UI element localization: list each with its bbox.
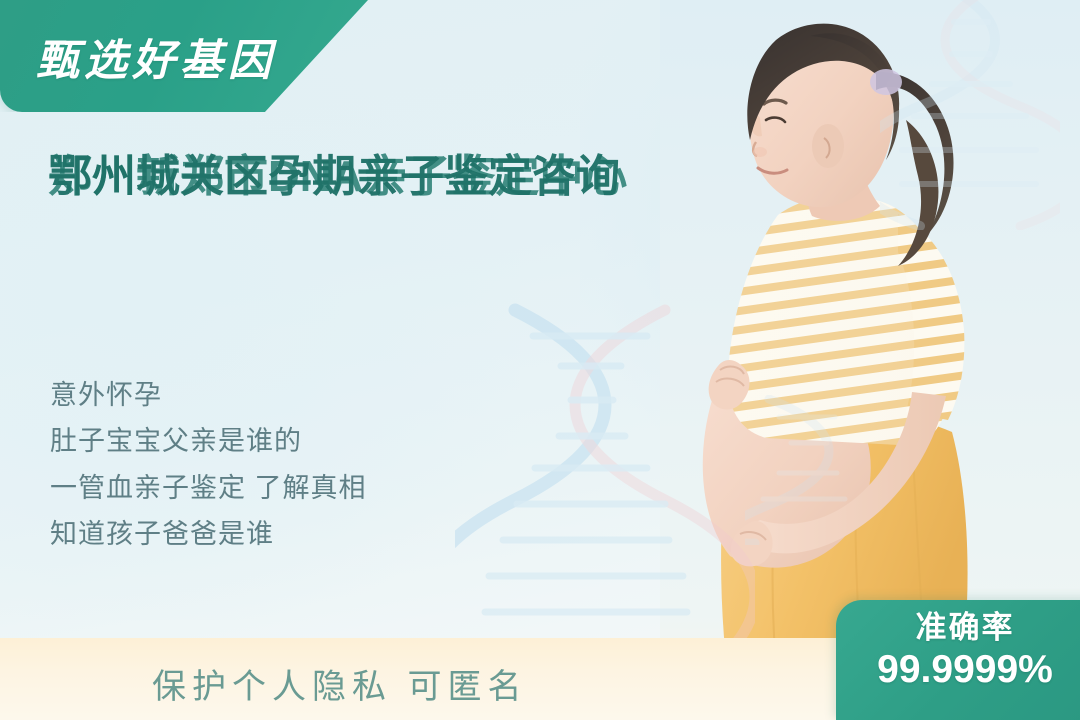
body-line: 意外怀孕 [50, 372, 570, 418]
headline-stack: 郑州新郑市DNA亲子鉴定中心 鄂州城关区孕期亲子鉴定咨询 [48, 148, 928, 288]
privacy-notice: 保护个人隐私 可匿名 [152, 659, 527, 708]
brand-badge-label: 甄选好基因 [36, 26, 276, 88]
headline-front-layer: 鄂州城关区孕期亲子鉴定咨询 [48, 148, 928, 205]
promo-poster: 甄选好基因 郑州新郑市DNA亲子鉴定中心 鄂州城关区孕期亲子鉴定咨询 意外怀孕 … [0, 0, 1080, 720]
body-copy: 意外怀孕 肚子宝宝父亲是谁的 一管血亲子鉴定 了解真相 知道孩子爸爸是谁 [50, 372, 570, 558]
accuracy-value: 99.9999% [836, 647, 1080, 693]
accuracy-badge: 准确率 99.9999% [836, 600, 1080, 720]
brand-badge: 甄选好基因 [0, 0, 368, 112]
accuracy-label: 准确率 [836, 610, 1080, 647]
body-line: 一管血亲子鉴定 了解真相 [50, 465, 570, 511]
body-line: 知道孩子爸爸是谁 [50, 511, 570, 557]
body-line: 肚子宝宝父亲是谁的 [50, 418, 570, 464]
